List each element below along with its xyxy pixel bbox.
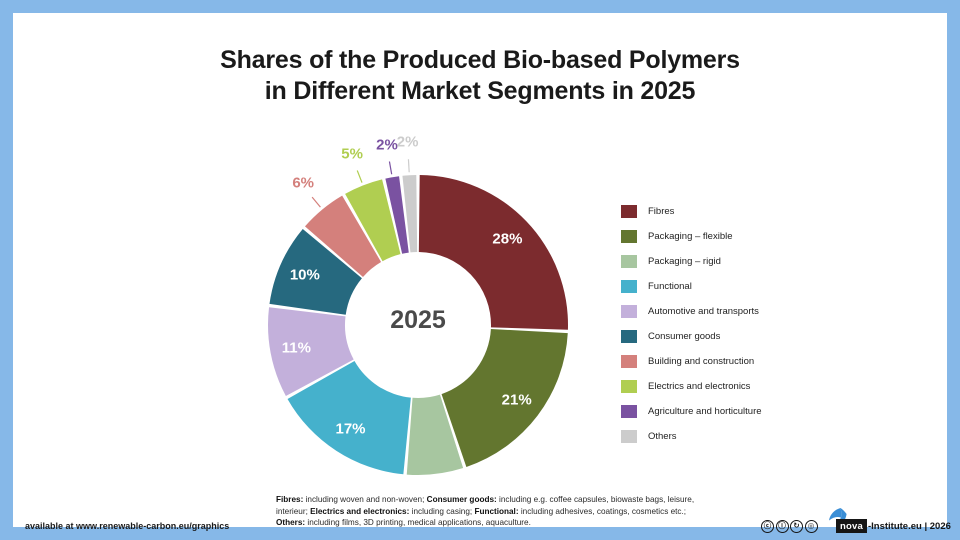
legend-item-label: Packaging – rigid [648, 256, 721, 267]
slice-leader-line [357, 171, 362, 183]
credit-text: -Institute.eu | 2026 [868, 521, 951, 532]
donut-slice[interactable] [419, 175, 568, 330]
footnote-text-3: interieur; [276, 507, 310, 516]
legend-color-swatch [621, 380, 637, 393]
legend-item-label: Building and construction [648, 356, 754, 367]
cc-nd-icon: ◎ [805, 520, 818, 533]
poster-frame: Shares of the Produced Bio-based Polymer… [13, 13, 947, 527]
footnote-text-5: including adhesives, coatings, cosmetics… [519, 507, 686, 516]
footnote-term-others: Others: [276, 518, 305, 527]
footnote-text-4: including casing; [409, 507, 474, 516]
legend-item[interactable]: Fibres [621, 199, 921, 224]
legend-item[interactable]: Agriculture and horticulture [621, 399, 921, 424]
creative-commons-icons: ⓒⓘ↻◎ [761, 520, 819, 533]
slice-leader-line [312, 197, 320, 207]
legend-color-swatch [621, 405, 637, 418]
chart-legend: FibresPackaging – flexiblePackaging – ri… [621, 199, 921, 449]
footnote-term-functional: Functional: [474, 507, 518, 516]
legend-item-label: Fibres [648, 206, 674, 217]
footnote-line-1: Fibres: including woven and non-woven; C… [276, 494, 776, 506]
legend-item[interactable]: Building and construction [621, 349, 921, 374]
title-line-1: Shares of the Produced Bio-based Polymer… [220, 46, 740, 74]
legend-color-swatch [621, 330, 637, 343]
nova-institute-logo[interactable]: nova -Institute.eu | 2026 [825, 516, 951, 536]
legend-color-swatch [621, 205, 637, 218]
legend-item[interactable]: Functional [621, 274, 921, 299]
legend-color-swatch [621, 430, 637, 443]
donut-chart: 2025 28%21%17%11%10%6%5%2%2% [242, 145, 594, 501]
legend-item[interactable]: Consumer goods [621, 324, 921, 349]
legend-item[interactable]: Others [621, 424, 921, 449]
legend-color-swatch [621, 305, 637, 318]
legend-item-label: Electrics and electronics [648, 381, 750, 392]
legend-color-swatch [621, 255, 637, 268]
credit-bar: ⓒⓘ↻◎ nova -Institute.eu | 2026 [761, 516, 951, 536]
availability-note: available at www.renewable-carbon.eu/gra… [25, 521, 229, 531]
footnote-text-6: including films, 3D printing, medical ap… [305, 518, 531, 527]
footnote-line-2: interieur; Electrics and electronics: in… [276, 506, 776, 518]
footnote-text-2: including e.g. coffee capsules, biowaste… [497, 495, 694, 504]
legend-color-swatch [621, 230, 637, 243]
legend-item[interactable]: Packaging – rigid [621, 249, 921, 274]
legend-item-label: Agriculture and horticulture [648, 406, 762, 417]
legend-item-label: Consumer goods [648, 331, 720, 342]
donut-svg [242, 145, 594, 501]
footnote-term-electrics: Electrics and electronics: [310, 507, 409, 516]
legend-item[interactable]: Automotive and transports [621, 299, 921, 324]
footnote-line-3: Others: including films, 3D printing, me… [276, 517, 776, 529]
legend-item-label: Others [648, 431, 677, 442]
legend-color-swatch [621, 280, 637, 293]
legend-item-label: Automotive and transports [648, 306, 759, 317]
page-title: Shares of the Produced Bio-based Polymer… [13, 45, 947, 107]
footnote-text-1: including woven and non-woven; [303, 495, 426, 504]
footnote-term-consumer-goods: Consumer goods: [427, 495, 497, 504]
legend-item-label: Packaging – flexible [648, 231, 733, 242]
cc-by-icon: ⓘ [776, 520, 789, 533]
slice-leader-line [408, 159, 409, 172]
cc-sa-icon: ↻ [790, 520, 803, 533]
donut-slices [268, 175, 568, 475]
legend-color-swatch [621, 355, 637, 368]
legend-item-label: Functional [648, 281, 692, 292]
title-line-2: in Different Market Segments in 2025 [13, 76, 947, 107]
legend-item[interactable]: Packaging – flexible [621, 224, 921, 249]
donut-slice[interactable] [442, 329, 568, 467]
cc-cc-icon: ⓒ [761, 520, 774, 533]
footnote-term-fibres: Fibres: [276, 495, 303, 504]
slice-leader-line [389, 161, 391, 174]
footnote: Fibres: including woven and non-woven; C… [276, 494, 776, 529]
nova-wordmark: nova [836, 519, 867, 533]
legend-item[interactable]: Electrics and electronics [621, 374, 921, 399]
